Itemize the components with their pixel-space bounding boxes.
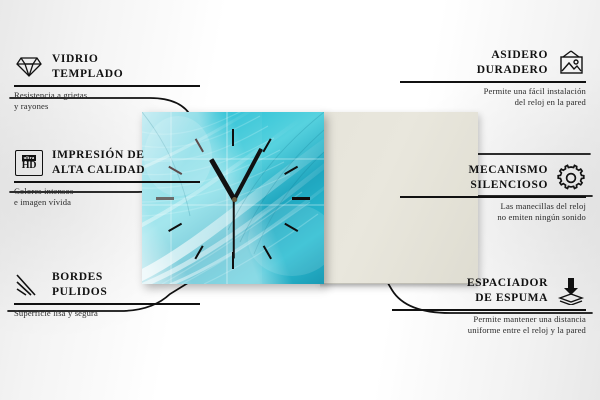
feature-desc-line2: no emiten ningún sonido: [400, 212, 586, 224]
feature-divider: [400, 81, 586, 83]
feature-desc-line1: Superficie lisa y segura: [14, 308, 200, 320]
feature-divider: [14, 303, 200, 305]
feature-desc-line1: Resistencia a grietas: [14, 90, 200, 102]
feature-desc-line2: uniforme entre el reloj y la pared: [392, 325, 586, 337]
feature-title-line2: TEMPLADO: [52, 67, 123, 82]
ultra-hd-badge-main: HD: [22, 161, 37, 171]
feature-divider: [14, 85, 200, 87]
ultra-hd-icon: ultra HD: [14, 148, 44, 178]
feature-asidero-duradero: ASIDERO DURADERO Permite una fácil insta…: [400, 48, 586, 109]
feature-title-line1: BORDES: [52, 270, 107, 285]
picture-hanger-icon: [556, 48, 586, 78]
feature-desc-line2: e imagen vívida: [14, 197, 200, 209]
feature-title-line2: DE ESPUMA: [467, 291, 548, 306]
feature-vidrio-templado: VIDRIO TEMPLADO Resistencia a grietas y …: [14, 52, 200, 113]
feature-desc-line1: Colores intensos: [14, 186, 200, 198]
diamond-icon: [14, 52, 44, 82]
feature-desc-line2: del reloj en la pared: [400, 97, 586, 109]
feature-impresion-alta-calidad: ultra HD IMPRESIÓN DE ALTA CALIDAD Color…: [14, 148, 200, 209]
feature-title-line1: MECANISMO: [468, 163, 548, 178]
feature-title-line2: SILENCIOSO: [468, 178, 548, 193]
feature-title-line1: ESPACIADOR: [467, 276, 548, 291]
feature-desc-line1: Las manecillas del reloj: [400, 201, 586, 213]
feature-desc-line1: Permite una fácil instalación: [400, 86, 586, 98]
diagonal-lines-icon: [14, 270, 44, 300]
feature-divider: [14, 181, 200, 183]
feature-title-line2: DURADERO: [477, 63, 548, 78]
feature-espaciador-de-espuma: ESPACIADOR DE ESPUMA Permite mantener un…: [392, 276, 586, 337]
feature-desc-line1: Permite mantener una distancia: [392, 314, 586, 326]
feature-title-line2: PULIDOS: [52, 285, 107, 300]
feature-title-line1: ASIDERO: [477, 48, 548, 63]
feature-divider: [392, 309, 586, 311]
feature-title-line1: VIDRIO: [52, 52, 123, 67]
feature-mecanismo-silencioso: MECANISMO SILENCIOSO Las manecillas del …: [400, 163, 586, 224]
product-infographic: VIDRIO TEMPLADO Resistencia a grietas y …: [0, 0, 600, 400]
feature-bordes-pulidos: BORDES PULIDOS Superficie lisa y segura: [14, 270, 200, 319]
feature-title-line1: IMPRESIÓN DE: [52, 148, 145, 163]
clock-second-hand: [233, 199, 235, 259]
clock-center-hub: [232, 197, 237, 202]
gear-icon: [556, 163, 586, 193]
feature-divider: [400, 196, 586, 198]
feature-title-line2: ALTA CALIDAD: [52, 163, 145, 178]
feature-desc-line2: y rayones: [14, 101, 200, 113]
down-arrow-layers-icon: [556, 276, 586, 306]
